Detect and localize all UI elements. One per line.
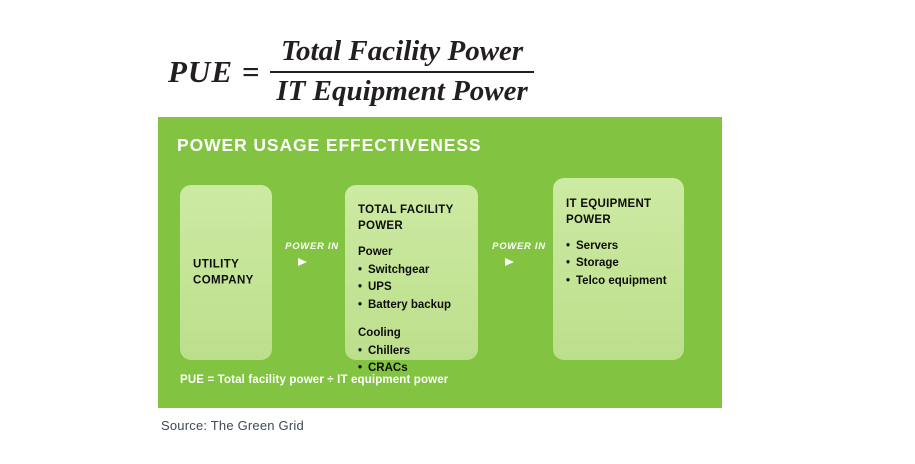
panel-title: POWER USAGE EFFECTIVENESS bbox=[177, 135, 481, 156]
formula-fraction-bar bbox=[270, 71, 533, 73]
list-item: Switchgear bbox=[358, 262, 469, 280]
list-item: UPS bbox=[358, 279, 469, 297]
formula-left-side: PUE = bbox=[168, 54, 260, 90]
it-card-content: IT EQUIPMENT POWER Servers Storage Telco… bbox=[566, 196, 675, 290]
facility-card-heading: TOTAL FACILITY POWER bbox=[358, 202, 469, 235]
pue-formula: PUE = Total Facility Power IT Equipment … bbox=[168, 34, 534, 110]
card-total-facility-power: TOTAL FACILITY POWER Power Switchgear UP… bbox=[345, 185, 478, 360]
list-item: Storage bbox=[566, 255, 675, 273]
formula-denominator: IT Equipment Power bbox=[270, 74, 533, 109]
formula-fraction: Total Facility Power IT Equipment Power bbox=[270, 34, 533, 110]
it-equipment-list: Servers Storage Telco equipment bbox=[566, 238, 675, 291]
arrow-label-power-in-2: POWER IN bbox=[483, 241, 555, 252]
list-item: Chillers bbox=[358, 343, 469, 361]
panel-footer-equation: PUE = Total facility power ÷ IT equipmen… bbox=[180, 374, 448, 386]
card-utility-company: UTILITY COMPANY bbox=[180, 185, 272, 360]
arrow-head bbox=[298, 258, 307, 266]
utility-company-label: UTILITY COMPANY bbox=[193, 256, 263, 289]
source-caption: Source: The Green Grid bbox=[161, 418, 304, 433]
arrow-power-in-2: POWER IN bbox=[483, 241, 555, 258]
facility-group-label-cooling: Cooling bbox=[358, 325, 469, 341]
arrow-head bbox=[505, 258, 514, 266]
arrow-power-in-1: POWER IN bbox=[276, 241, 348, 258]
list-item: Battery backup bbox=[358, 297, 469, 315]
facility-group-label-power: Power bbox=[358, 244, 469, 260]
list-item: Telco equipment bbox=[566, 273, 675, 291]
formula-numerator: Total Facility Power bbox=[275, 34, 529, 69]
it-card-heading: IT EQUIPMENT POWER bbox=[566, 196, 675, 229]
facility-card-content: TOTAL FACILITY POWER Power Switchgear UP… bbox=[358, 202, 469, 378]
facility-cooling-list: Chillers CRACs bbox=[358, 343, 469, 378]
arrow-label-power-in-1: POWER IN bbox=[276, 241, 348, 252]
card-it-equipment-power: IT EQUIPMENT POWER Servers Storage Telco… bbox=[553, 178, 684, 360]
pue-diagram-panel: POWER USAGE EFFECTIVENESS UTILITY COMPAN… bbox=[158, 117, 722, 408]
list-item: Servers bbox=[566, 238, 675, 256]
facility-power-list: Switchgear UPS Battery backup bbox=[358, 262, 469, 315]
